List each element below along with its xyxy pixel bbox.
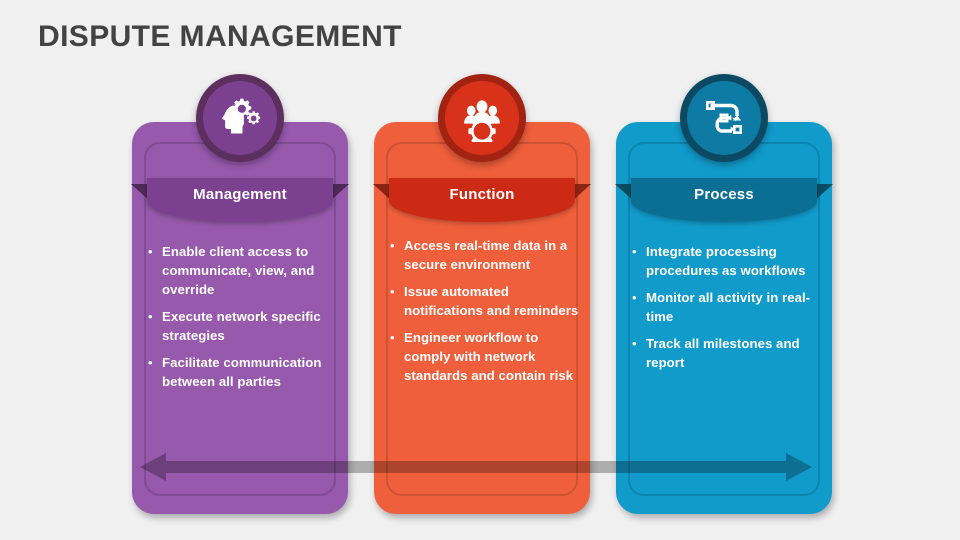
icon-badge-management [196, 74, 284, 162]
bullet-marker-icon: • [148, 242, 162, 261]
bullet-list-function: • Access real-time data in a secure envi… [390, 236, 584, 393]
ribbon-label-process: Process [694, 186, 754, 203]
double-headed-arrow [140, 452, 812, 482]
head-with-gears-icon [216, 94, 264, 142]
list-item: • Access real-time data in a secure envi… [390, 236, 584, 274]
list-item-text: Access real-time data in a secure enviro… [404, 236, 584, 274]
column-function: Function • Access real-time data in a se… [362, 74, 602, 514]
bullet-marker-icon: • [632, 242, 646, 261]
list-item-text: Monitor all activity in real-time [646, 288, 826, 326]
list-item: • Facilitate communication between all p… [148, 353, 342, 391]
list-item-text: Facilitate communication between all par… [162, 353, 342, 391]
list-item: • Monitor all activity in real-time [632, 288, 826, 326]
list-item: • Engineer workflow to comply with netwo… [390, 328, 584, 385]
page-title: DISPUTE MANAGEMENT [38, 20, 402, 54]
list-item-text: Integrate processing procedures as workf… [646, 242, 826, 280]
team-gear-icon [458, 94, 506, 142]
list-item: • Integrate processing procedures as wor… [632, 242, 826, 280]
list-item-text: Execute network specific strategies [162, 307, 342, 345]
ribbon-process: Process [631, 178, 817, 224]
list-item-text: Track all milestones and report [646, 334, 826, 372]
list-item: • Execute network specific strategies [148, 307, 342, 345]
bullet-marker-icon: • [390, 282, 404, 301]
bullet-marker-icon: • [632, 288, 646, 307]
bullet-list-management: • Enable client access to communicate, v… [148, 242, 342, 399]
list-item-text: Enable client access to communicate, vie… [162, 242, 342, 299]
icon-badge-process [680, 74, 768, 162]
bullet-marker-icon: • [390, 328, 404, 347]
workflow-diagram-icon [701, 95, 747, 141]
ribbon-management: Management [147, 178, 333, 224]
ribbon-function: Function [389, 178, 575, 224]
list-item: • Enable client access to communicate, v… [148, 242, 342, 299]
bullet-marker-icon: • [632, 334, 646, 353]
list-item-text: Engineer workflow to comply with network… [404, 328, 584, 385]
bullet-marker-icon: • [148, 353, 162, 372]
bullet-list-process: • Integrate processing procedures as wor… [632, 242, 826, 380]
column-management: Management • Enable client access to com… [120, 74, 360, 514]
ribbon-label-management: Management [193, 186, 287, 203]
column-process: Process • Integrate processing procedure… [604, 74, 844, 514]
list-item: • Track all milestones and report [632, 334, 826, 372]
ribbon-label-function: Function [450, 186, 515, 203]
bullet-marker-icon: • [390, 236, 404, 255]
icon-badge-function [438, 74, 526, 162]
list-item: • Issue automated notifications and remi… [390, 282, 584, 320]
slide-canvas: DISPUTE MANAGEMENT Mana [0, 0, 960, 540]
bullet-marker-icon: • [148, 307, 162, 326]
list-item-text: Issue automated notifications and remind… [404, 282, 584, 320]
